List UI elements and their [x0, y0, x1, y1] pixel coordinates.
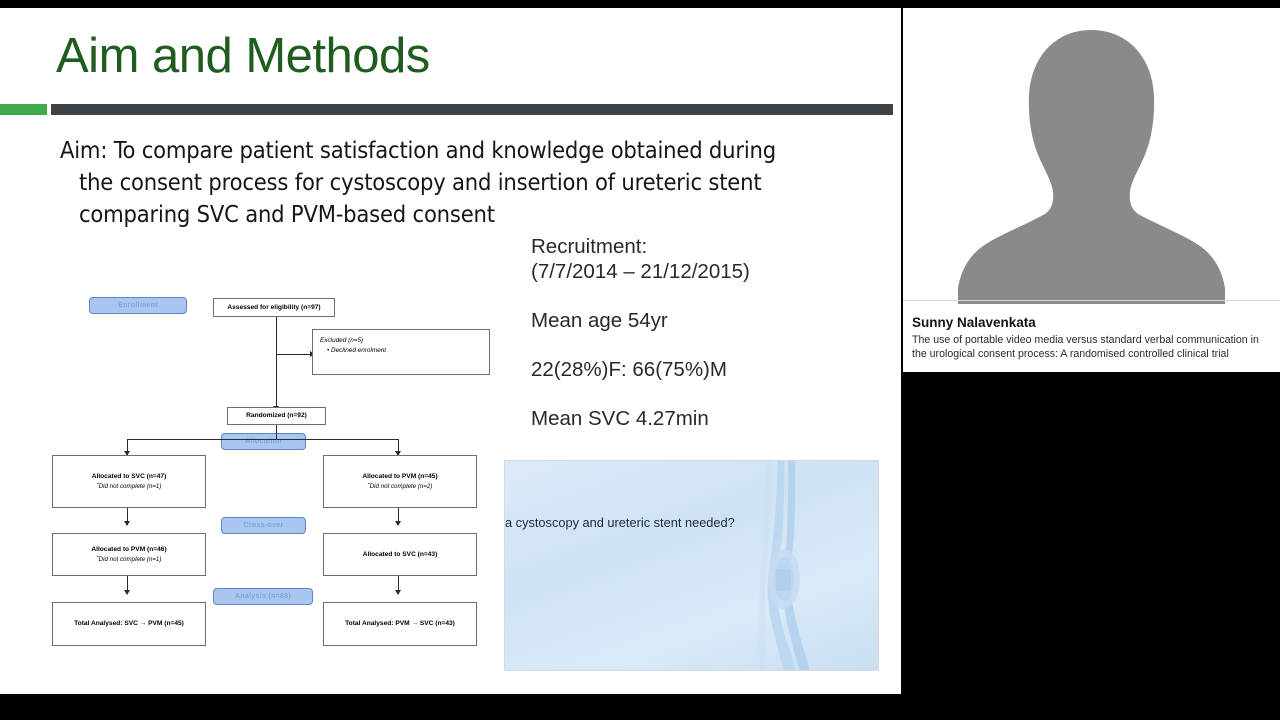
- flow-box-excluded-label: Excluded (n=5): [320, 336, 363, 346]
- flow-box-total-analysed-svc-pvm: Total Analysed: SVC → PVM (n=45): [52, 602, 206, 646]
- dark-rule-bar: [51, 104, 893, 115]
- speaker-panel: Sunny Nalavenkata The use of portable vi…: [903, 8, 1280, 372]
- connector-to-excluded: [276, 354, 312, 355]
- flow-box-excluded-reason: • Declined enrolment: [320, 346, 386, 356]
- stage-badge-crossover: Cross-over: [221, 517, 306, 534]
- panel-divider: [903, 300, 1280, 301]
- stat-recruitment-label: Recruitment:: [531, 234, 891, 259]
- arrow-pvm-crossover-icon: [395, 521, 401, 526]
- flow-box-allocated-pvm-note: ˜Did not complete (n=2): [368, 482, 433, 492]
- arrow-svc-analysis-icon: [124, 590, 130, 595]
- aim-line-3: comparing SVC and PVM-based consent: [60, 198, 830, 230]
- flow-box-allocated-pvm-label: Allocated to PVM (n=45): [362, 472, 437, 482]
- flow-box-allocated-pvm: Allocated to PVM (n=45) ˜Did not complet…: [323, 455, 477, 508]
- flow-box-assessed-label: Assessed for eligibility (n=97): [227, 303, 320, 313]
- slide-panel[interactable]: Aim and Methods Aim: To compare patient …: [0, 8, 901, 694]
- video-caption: a cystoscopy and ureteric stent needed?: [505, 514, 735, 531]
- flow-box-allocated-svc-note: ˜Did not complete (n=1): [97, 482, 162, 492]
- flow-box-total-analysed-svc-pvm-label: Total Analysed: SVC → PVM (n=45): [74, 619, 184, 629]
- stat-recruitment-dates: (7/7/2014 – 21/12/2015): [531, 259, 891, 284]
- connector-split-horizontal: [127, 439, 399, 440]
- avatar: [903, 8, 1280, 304]
- recruitment-statistics: Recruitment: (7/7/2014 – 21/12/2015) Mea…: [531, 234, 891, 431]
- stage-badge-analysis: Analysis (n=88): [213, 588, 313, 605]
- stat-mean-age-value: Mean age 54yr: [531, 308, 891, 333]
- flow-box-assessed-for-eligibility: Assessed for eligibility (n=97): [213, 298, 335, 317]
- stat-sex-split-value: 22(28%)F: 66(75%)M: [531, 357, 891, 382]
- aim-line-1: Aim: To compare patient satisfaction and…: [60, 134, 830, 166]
- aim-statement: Aim: To compare patient satisfaction and…: [60, 134, 830, 230]
- stat-mean-age: Mean age 54yr: [531, 308, 891, 333]
- person-silhouette-icon: [903, 8, 1280, 304]
- presentation-viewer: Aim and Methods Aim: To compare patient …: [0, 0, 1280, 720]
- flow-box-crossover-svc: Allocated to SVC (n=43): [323, 533, 477, 576]
- stat-mean-svc-value: Mean SVC 4.27min: [531, 406, 891, 431]
- connector-assessed-to-randomized: [276, 316, 277, 411]
- flow-box-crossover-svc-label: Allocated to SVC (n=43): [363, 550, 438, 560]
- flow-box-randomized-label: Randomized (n=92): [246, 411, 307, 421]
- stage-badge-allocation: Allocation: [221, 433, 306, 450]
- flow-box-crossover-pvm: Allocated to PVM (n=46) ˜Did not complet…: [52, 533, 206, 576]
- slide-title: Aim and Methods: [56, 26, 430, 86]
- stat-mean-svc: Mean SVC 4.27min: [531, 406, 891, 431]
- stat-recruitment: Recruitment: (7/7/2014 – 21/12/2015): [531, 234, 891, 284]
- flow-box-crossover-pvm-note: ˜Did not complete (n=1): [97, 555, 162, 565]
- speaker-meta: Sunny Nalavenkata The use of portable vi…: [903, 304, 1280, 361]
- arrow-svc-crossover-icon: [124, 521, 130, 526]
- arrow-pvm-analysis-icon: [395, 590, 401, 595]
- ureter-illustration-icon: [758, 460, 820, 671]
- connector-randomized-down: [276, 425, 277, 439]
- stage-badge-enrollment: Enrollment: [89, 297, 187, 314]
- flow-box-allocated-svc-label: Allocated to SVC (n=47): [92, 472, 167, 482]
- speaker-name: Sunny Nalavenkata: [912, 314, 1271, 331]
- flow-box-total-analysed-pvm-svc-label: Total Analysed: PVM → SVC (n=43): [345, 619, 455, 629]
- flow-box-total-analysed-pvm-svc: Total Analysed: PVM → SVC (n=43): [323, 602, 477, 646]
- flow-box-allocated-svc: Allocated to SVC (n=47) ˜Did not complet…: [52, 455, 206, 508]
- aim-line-2: the consent process for cystoscopy and i…: [60, 166, 830, 198]
- consort-flow-diagram: Enrollment Allocation Cross-over Analysi…: [50, 291, 490, 656]
- flow-box-excluded: Excluded (n=5) • Declined enrolment: [312, 329, 490, 375]
- green-accent-bar: [0, 104, 47, 115]
- speaker-talk-title: The use of portable video media versus s…: [912, 334, 1271, 361]
- stat-sex-split: 22(28%)F: 66(75%)M: [531, 357, 891, 382]
- title-divider-rule: [0, 104, 893, 115]
- flow-box-crossover-pvm-label: Allocated to PVM (n=46): [91, 545, 166, 555]
- flow-box-randomized: Randomized (n=92): [227, 407, 326, 425]
- video-thumbnail[interactable]: a cystoscopy and ureteric stent needed?: [504, 460, 879, 671]
